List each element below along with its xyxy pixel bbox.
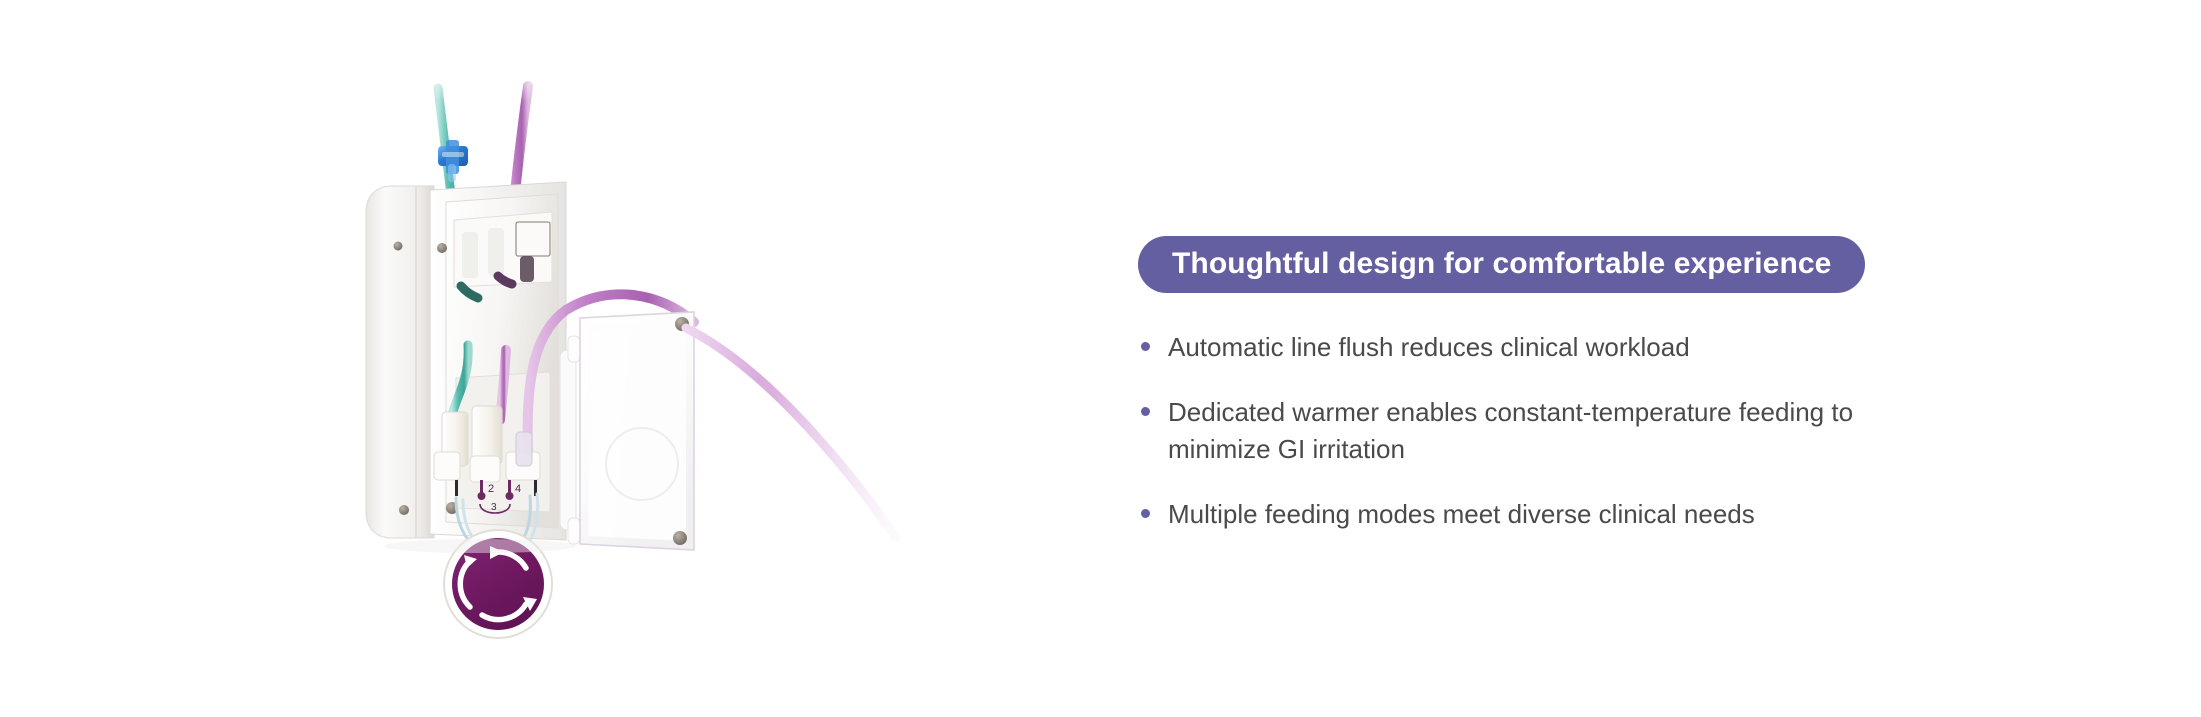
list-item: Multiple feeding modes meet diverse clin… <box>1138 496 1928 533</box>
pump-side-shell <box>366 186 434 538</box>
cassette-foot-left <box>434 452 460 480</box>
tube-fade-mask-right <box>760 360 970 620</box>
tube-group-outlet <box>686 328 970 620</box>
marking-tick-1 <box>455 480 458 496</box>
marking-dot-4 <box>506 492 514 500</box>
list-item-text: Dedicated warmer enables constant-temper… <box>1168 397 1853 464</box>
bullet-dot-icon <box>1141 509 1150 518</box>
list-item-text: Multiple feeding modes meet diverse clin… <box>1168 499 1755 529</box>
transparent-door[interactable] <box>560 312 694 550</box>
product-photo: 2 4 3 <box>330 60 970 660</box>
tube-slot-mid <box>488 228 504 276</box>
feature-bullet-list: Automatic line flush reduces clinical wo… <box>1138 329 1938 533</box>
side-pin-bottom <box>399 505 409 515</box>
section-heading-pill: Thoughtful design for comfortable experi… <box>1138 236 1865 293</box>
tube-fade-mask-top <box>400 60 600 180</box>
marking-tick-2 <box>480 480 483 494</box>
marking-tick-4 <box>508 480 511 494</box>
product-illustration: 2 4 3 <box>330 60 970 660</box>
channel-label-4: 4 <box>515 483 521 495</box>
door-hinge-pin-bottom <box>568 518 580 544</box>
outlet-tube-sensor-clip <box>520 256 534 282</box>
luer-connector <box>516 432 532 466</box>
housing-pin-top <box>437 243 447 253</box>
list-item: Automatic line flush reduces clinical wo… <box>1138 329 1928 366</box>
bullet-dot-icon <box>1141 342 1150 351</box>
channel-label-3: 3 <box>491 502 497 513</box>
channel-label-2: 2 <box>488 483 494 495</box>
feature-copy-panel: Thoughtful design for comfortable experi… <box>1138 236 1938 533</box>
side-pin-top <box>394 242 403 251</box>
door-hinge-bar <box>560 350 576 530</box>
device-shadow <box>384 539 576 553</box>
door-pin-bottom-right <box>673 531 687 545</box>
list-item-text: Automatic line flush reduces clinical wo… <box>1168 332 1690 362</box>
cassette-block-mid <box>472 406 502 464</box>
bullet-dot-icon <box>1141 407 1150 416</box>
section-heading-text: Thoughtful design for comfortable experi… <box>1172 247 1831 280</box>
cassette-foot-mid <box>470 456 500 482</box>
marking-dot-2 <box>478 492 486 500</box>
tube-slot-left <box>462 232 478 278</box>
list-item: Dedicated warmer enables constant-temper… <box>1138 394 1928 468</box>
door-hinge-pin-top <box>568 336 580 362</box>
